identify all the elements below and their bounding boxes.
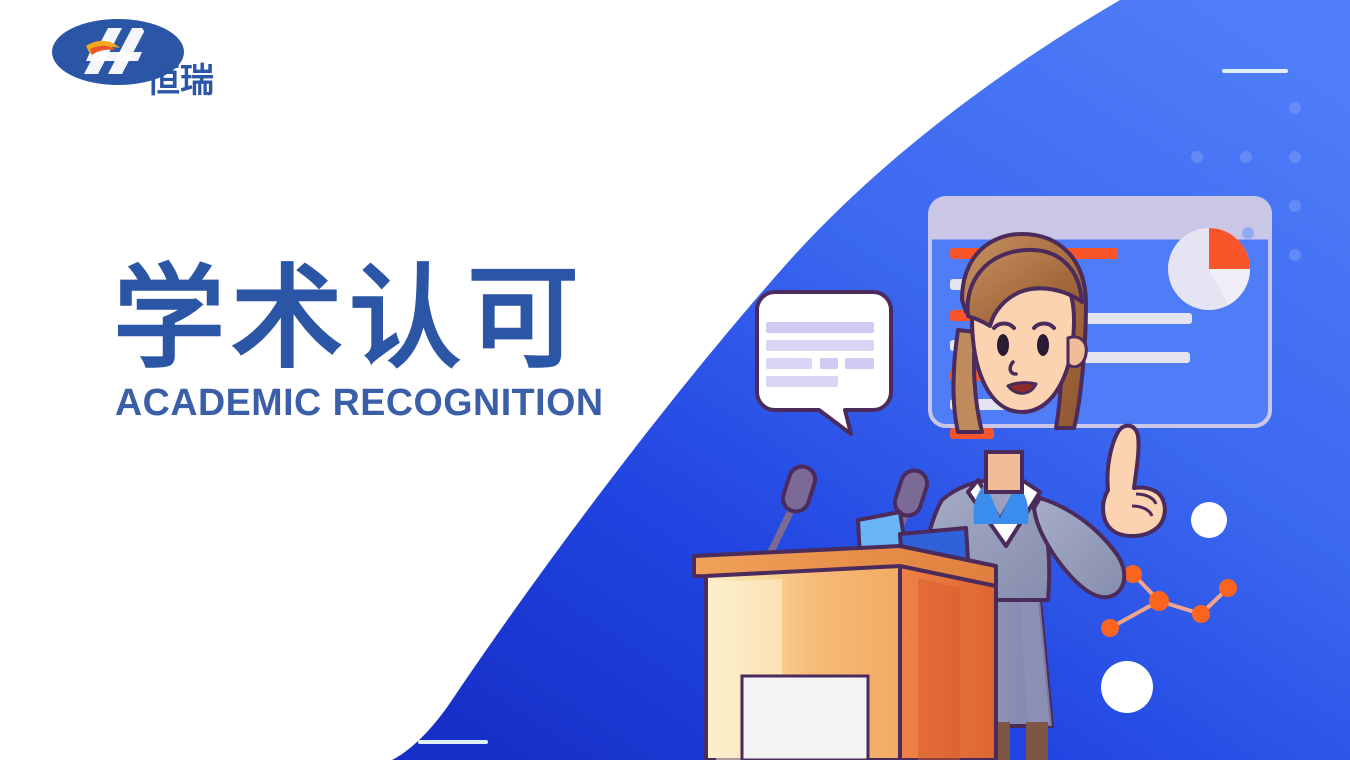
white-circle-small bbox=[1191, 502, 1227, 538]
speech-bubble bbox=[757, 292, 891, 434]
speaker-illustration bbox=[922, 234, 1165, 760]
molecule-node bbox=[1124, 565, 1142, 583]
accent-rule-top-right bbox=[1222, 69, 1288, 73]
molecule-node bbox=[1192, 605, 1210, 623]
panel-bars bbox=[950, 248, 1192, 439]
molecule-node bbox=[1149, 591, 1169, 611]
molecule-node bbox=[1101, 619, 1119, 637]
pie-chart bbox=[1168, 227, 1254, 310]
accent-rule-bottom-left bbox=[418, 740, 488, 744]
analytics-panel bbox=[930, 198, 1270, 439]
white-circle-large bbox=[1101, 661, 1153, 713]
headline-block: 学术认可 ACADEMIC RECOGNITION bbox=[113, 262, 713, 422]
page-title-cn: 学术认可 bbox=[113, 262, 713, 376]
logo-characters: 恒瑞 bbox=[146, 61, 214, 100]
molecule-graphic bbox=[1101, 565, 1237, 637]
slide-canvas: 恒瑞 学术认可 ACADEMIC RECOGNITION bbox=[0, 0, 1350, 760]
hengrui-logo[interactable]: 恒瑞 bbox=[46, 14, 221, 100]
microphone-left bbox=[766, 463, 818, 562]
page-title-en: ACADEMIC RECOGNITION bbox=[115, 384, 707, 422]
podium bbox=[694, 463, 996, 760]
microphone-right bbox=[884, 467, 930, 562]
molecule-node bbox=[1219, 579, 1237, 597]
dot-grid bbox=[1191, 102, 1301, 261]
